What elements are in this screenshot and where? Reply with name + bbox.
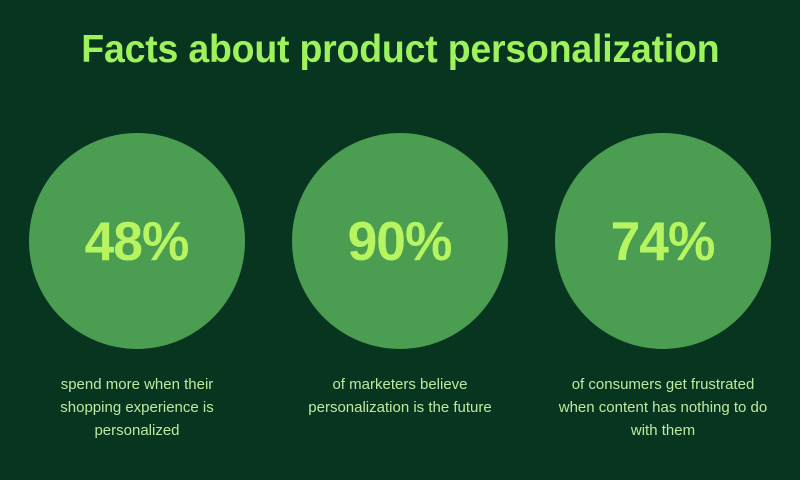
stat-caption-3: of consumers get frustrated when content…: [543, 373, 783, 442]
page-title: Facts about product personalization: [81, 30, 719, 69]
infographic-canvas: Facts about product personalization 48% …: [0, 0, 800, 480]
stat-value-3: 74%: [611, 214, 715, 269]
stats-row: 48% spend more when their shopping exper…: [0, 133, 800, 442]
stat-caption-1: spend more when their shopping experienc…: [37, 373, 237, 442]
title-container: Facts about product personalization: [0, 30, 800, 69]
stat-item-2: 90% of marketers believe personalization…: [269, 133, 532, 419]
stat-circle-2: 90%: [292, 133, 508, 349]
stat-item-3: 74% of consumers get frustrated when con…: [532, 133, 795, 442]
stat-value-2: 90%: [348, 214, 452, 269]
stat-circle-1: 48%: [29, 133, 245, 349]
stat-caption-2: of marketers believe personalization is …: [280, 373, 520, 419]
stat-item-1: 48% spend more when their shopping exper…: [6, 133, 269, 442]
stat-value-1: 48%: [85, 214, 189, 269]
stat-circle-3: 74%: [555, 133, 771, 349]
